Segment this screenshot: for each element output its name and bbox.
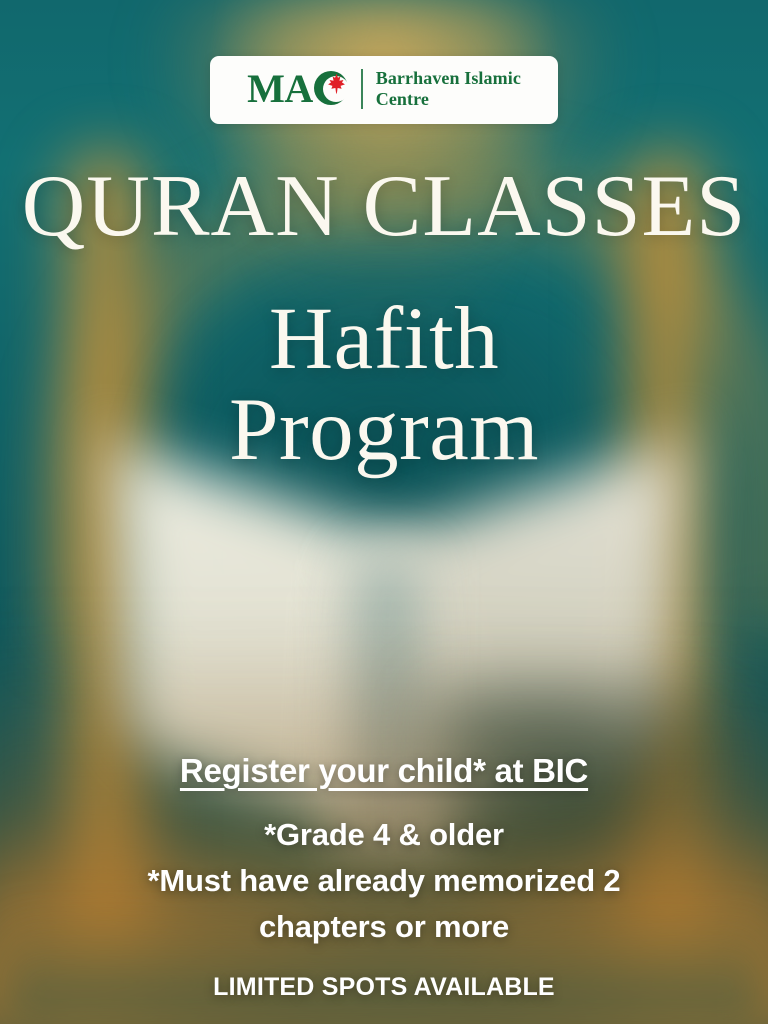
logo-org-name: Barrhaven Islamic Centre	[376, 68, 521, 110]
poster-title: QURAN CLASSES	[0, 163, 768, 251]
requirement-line: chapters or more	[0, 904, 768, 950]
logo-org-line-1: Barrhaven Islamic	[376, 68, 521, 89]
requirement-line: *Must have already memorized 2	[0, 858, 768, 904]
limited-spots-notice: LIMITED SPOTS AVAILABLE	[0, 973, 768, 1002]
crescent-c-icon	[314, 71, 348, 107]
logo-divider	[361, 69, 363, 109]
poster-subtitle-line-1: Hafith	[0, 294, 768, 385]
logo-inner: MA Barrhaven Islamic Centre	[247, 68, 521, 112]
mac-logo-card: MA Barrhaven Islamic Centre	[210, 56, 558, 124]
requirements-list: *Grade 4 & older *Must have already memo…	[0, 812, 768, 951]
logo-org-line-2: Centre	[376, 89, 521, 110]
maple-leaf-icon	[327, 73, 346, 95]
poster-subtitle: Hafith Program	[0, 294, 768, 476]
poster-content: MA Barrhaven Islamic Centre QURAN CLASSE…	[0, 0, 768, 1024]
poster-subtitle-line-2: Program	[0, 385, 768, 476]
requirement-line: *Grade 4 & older	[0, 812, 768, 858]
mac-letters: MA	[247, 69, 313, 109]
quran-classes-poster: MA Barrhaven Islamic Centre QURAN CLASSE…	[0, 0, 768, 1024]
mac-wordmark: MA	[247, 69, 348, 109]
register-cta-text: Register your child* at BIC	[0, 752, 768, 790]
poster-info-block: Register your child* at BIC *Grade 4 & o…	[0, 752, 768, 1002]
